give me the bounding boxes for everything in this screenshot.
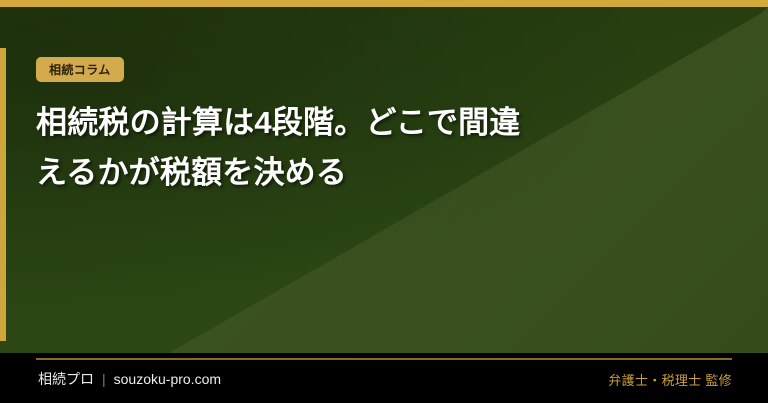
footer-brand-group: 相続プロ | souzoku-pro.com bbox=[38, 369, 221, 389]
top-gold-rule bbox=[0, 0, 768, 7]
page-title-line-1: 相続税の計算は4段階。どこで間違 bbox=[36, 98, 636, 148]
card-footer: 相続プロ | souzoku-pro.com 弁護士・税理士 監修 bbox=[0, 353, 768, 403]
left-gold-accent-bar bbox=[0, 48, 6, 341]
page-title: 相続税の計算は4段階。どこで間違 えるかが税額を決める bbox=[36, 98, 636, 198]
article-hero-card: 相続コラム 相続税の計算は4段階。どこで間違 えるかが税額を決める 相続プロ |… bbox=[0, 0, 768, 403]
category-badge[interactable]: 相続コラム bbox=[36, 57, 124, 82]
footer-site-url[interactable]: souzoku-pro.com bbox=[114, 371, 221, 387]
footer-supervision-credit: 弁護士・税理士 監修 bbox=[608, 370, 732, 389]
category-badge-label: 相続コラム bbox=[49, 61, 111, 78]
footer-brand-name: 相続プロ bbox=[38, 369, 94, 389]
page-title-line-2: えるかが税額を決める bbox=[36, 148, 636, 198]
footer-divider bbox=[36, 358, 732, 360]
footer-separator: | bbox=[102, 371, 106, 387]
